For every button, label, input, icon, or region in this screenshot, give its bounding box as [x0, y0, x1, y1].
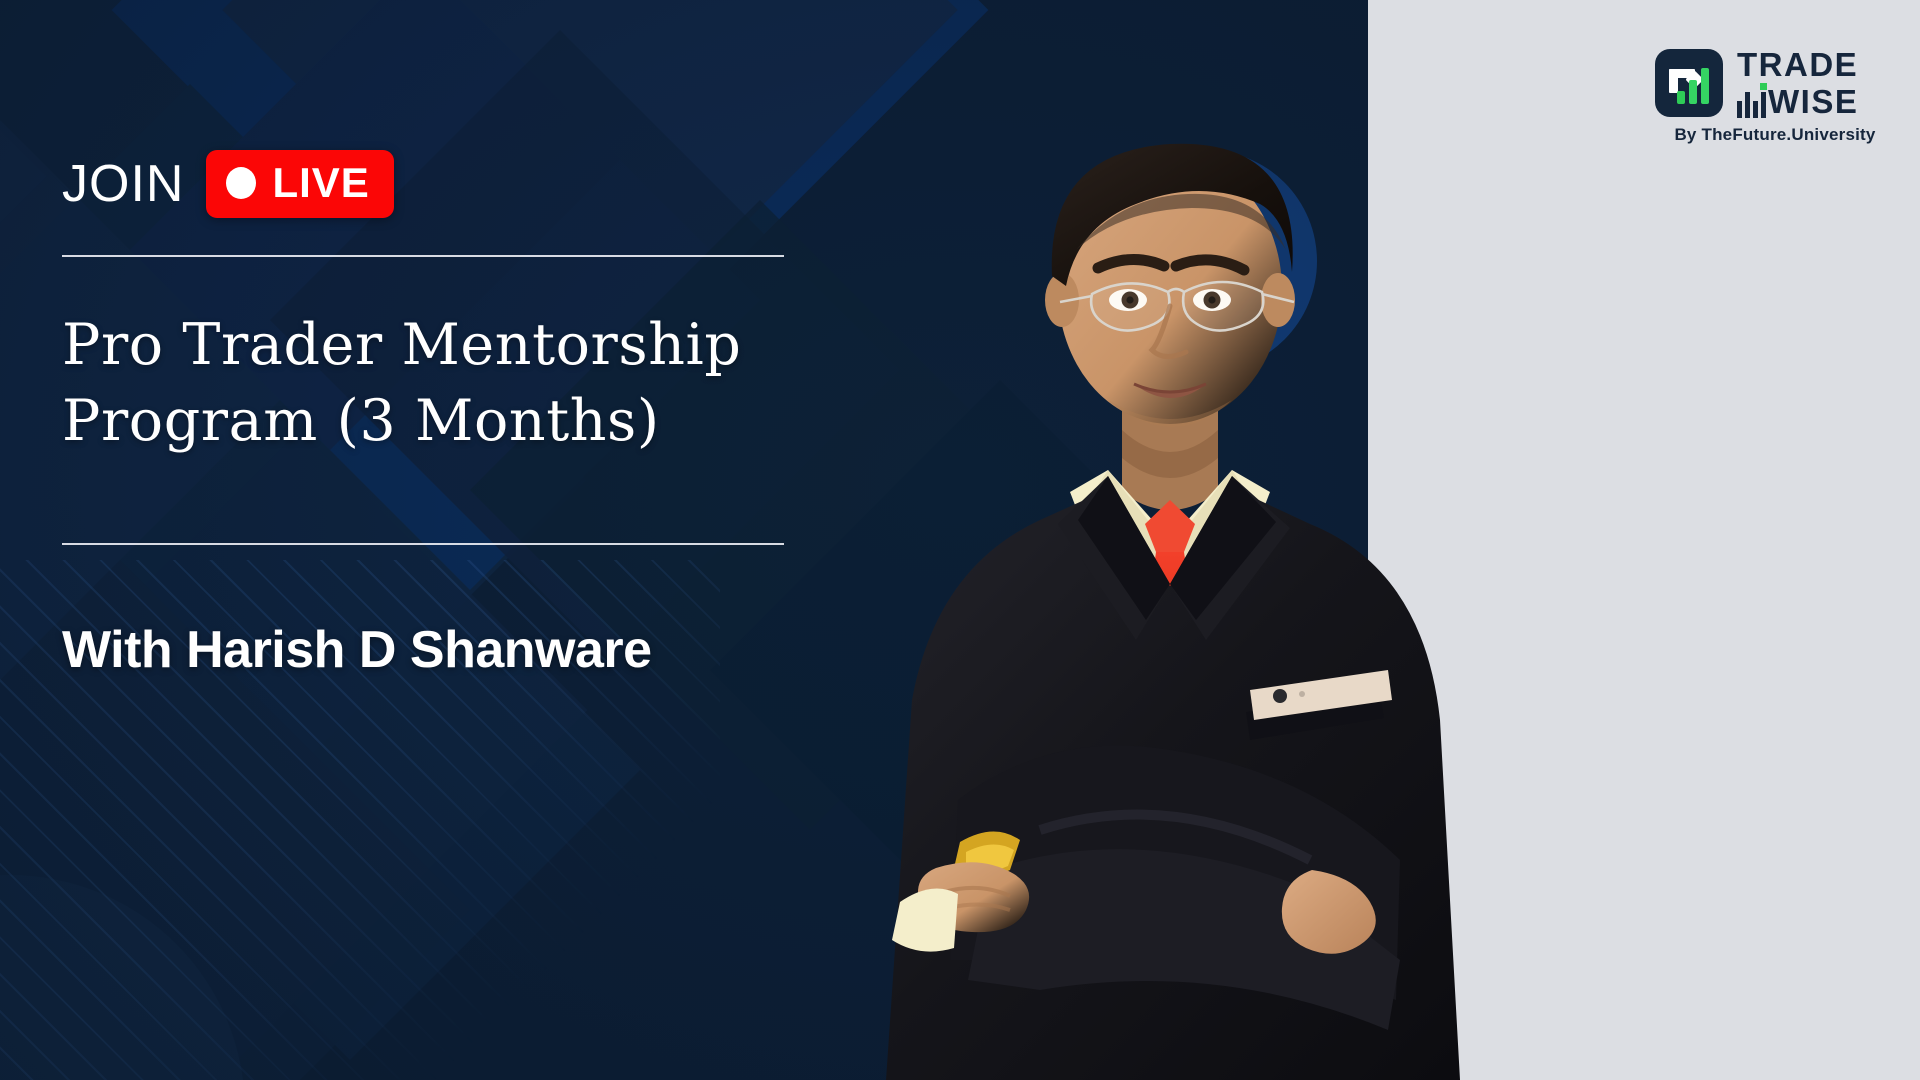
wise-bars-icon [1737, 92, 1766, 118]
live-label: LIVE [272, 162, 369, 204]
join-label: JOIN [62, 158, 184, 210]
logo-word-line1: TRADE [1737, 48, 1858, 81]
logo-word-line2: WISE [1737, 85, 1858, 118]
presenter-name: With Harish D Shanware [62, 620, 922, 680]
join-live-row: JOIN LIVE [62, 150, 394, 218]
page-title: Pro Trader Mentorship Program (3 Months) [62, 308, 862, 460]
wise-green-dot-icon [1760, 83, 1767, 90]
presenter-photo [840, 100, 1540, 1080]
live-record-dot-icon [226, 167, 256, 199]
presenter-figure [840, 100, 1540, 1080]
logo-tagline: By TheFuture.University [1655, 125, 1895, 145]
logo-word-line2-text: WISE [1768, 85, 1858, 118]
logo-row: TRADE WISE [1655, 48, 1895, 118]
live-badge[interactable]: LIVE [206, 150, 393, 218]
brand-logo[interactable]: TRADE WISE By TheFuture.University [1655, 48, 1895, 153]
logo-wordmark: TRADE WISE [1737, 48, 1858, 118]
trade-chart-bars-icon [1655, 49, 1723, 117]
banner-stage: JOIN LIVE Pro Trader Mentorship Program … [0, 0, 1920, 1080]
divider-bottom [62, 543, 784, 545]
divider-top [62, 255, 784, 257]
